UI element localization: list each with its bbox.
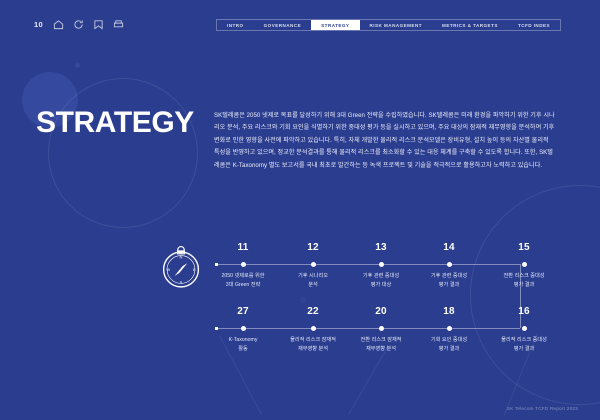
timeline-dot bbox=[311, 262, 316, 267]
timeline-number: 27 bbox=[203, 306, 283, 317]
timeline-dot bbox=[447, 326, 452, 331]
deco-dot-small bbox=[75, 63, 80, 68]
timeline-row2-start bbox=[215, 327, 218, 330]
timeline-dot bbox=[241, 326, 246, 331]
timeline-dot bbox=[447, 262, 452, 267]
page-title: STRATEGY bbox=[36, 108, 194, 138]
intro-body: SK텔레콤은 2050 넷제로 목표를 달성하기 위해 3대 Green 전략을… bbox=[214, 110, 556, 172]
section-nav[interactable]: INTRO GOVERNANCE STRATEGY RISK MANAGEMEN… bbox=[216, 19, 561, 31]
timeline-dot bbox=[241, 262, 246, 267]
tab-metrics-targets[interactable]: METRICS & TARGETS bbox=[432, 20, 508, 30]
deco-ring-outline bbox=[48, 78, 198, 228]
timeline-number: 15 bbox=[484, 242, 564, 253]
timeline-dot bbox=[379, 326, 384, 331]
tab-tcfd-index[interactable]: TCFD INDEX bbox=[508, 20, 560, 30]
timeline-track-row1 bbox=[217, 264, 520, 265]
tab-intro[interactable]: INTRO bbox=[217, 20, 254, 30]
timeline-number: 14 bbox=[409, 242, 489, 253]
timeline-dot bbox=[379, 262, 384, 267]
tab-strategy[interactable]: STRATEGY bbox=[311, 20, 359, 30]
footer-text: SK Telecom TCFD Report 2023 bbox=[507, 406, 578, 411]
timeline-number: 18 bbox=[409, 306, 489, 317]
timeline-label: 물리적 리스크 중대성 평가 결과 bbox=[477, 336, 571, 353]
tab-governance[interactable]: GOVERNANCE bbox=[254, 20, 312, 30]
home-icon[interactable] bbox=[53, 19, 64, 30]
bookmark-icon[interactable] bbox=[93, 19, 104, 30]
intro-paragraph: SK텔레콤은 2050 넷제로 목표를 달성하기 위해 3대 Green 전략을… bbox=[214, 110, 556, 172]
timeline-track-row2 bbox=[218, 328, 520, 329]
timeline-dot bbox=[522, 262, 527, 267]
toolbar-icons bbox=[53, 19, 124, 30]
print-icon[interactable] bbox=[113, 19, 124, 30]
timeline-dot bbox=[522, 326, 527, 331]
timeline: 11 2050 넷제로를 위한 3대 Green 전략 12 기후 시나리오 분… bbox=[0, 224, 600, 364]
timeline-number: 16 bbox=[484, 306, 564, 317]
refresh-icon[interactable] bbox=[73, 19, 84, 30]
tab-risk-management[interactable]: RISK MANAGEMENT bbox=[360, 20, 433, 30]
page-number: 10 bbox=[34, 20, 43, 29]
timeline-number: 11 bbox=[203, 242, 283, 253]
timeline-dot bbox=[311, 326, 316, 331]
timeline-label: 전환 리스크 중대성 평가 결과 bbox=[477, 272, 571, 289]
